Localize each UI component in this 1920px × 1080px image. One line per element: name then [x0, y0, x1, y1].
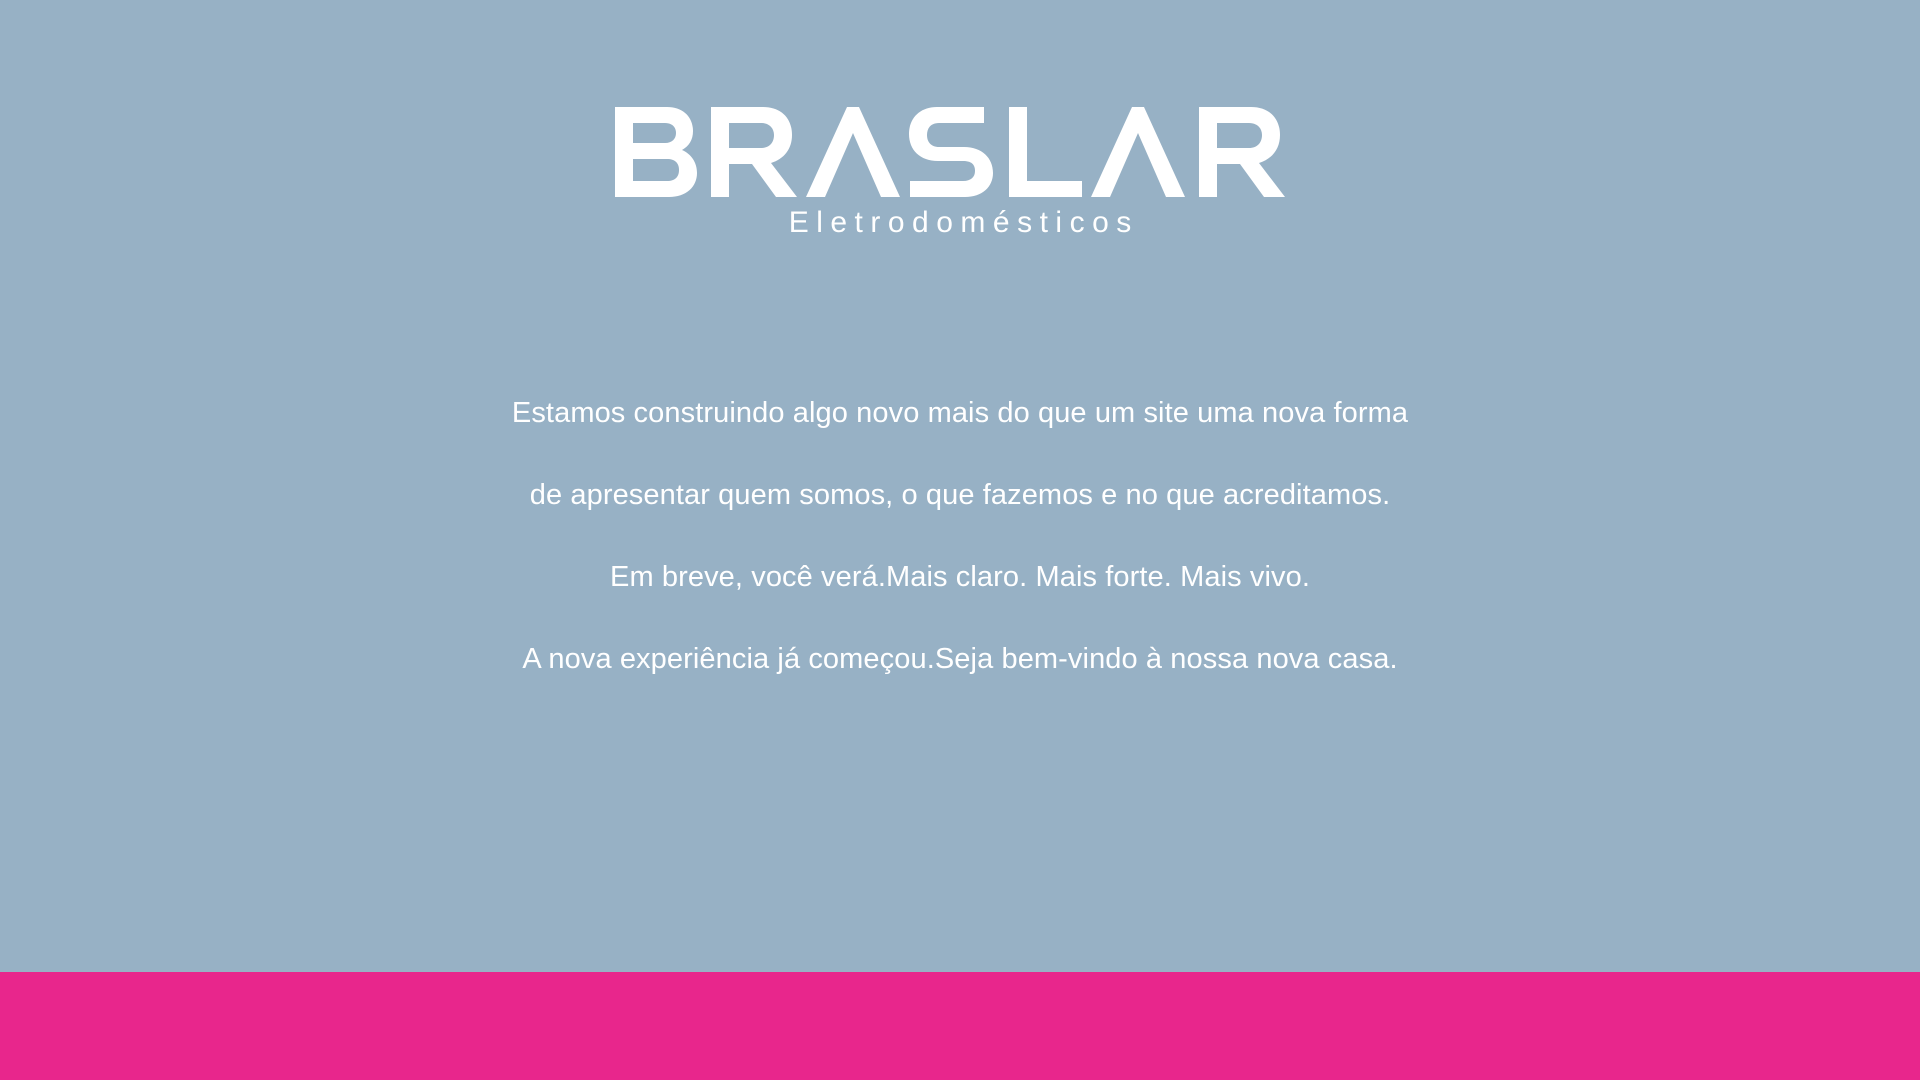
footer-accent-bar [0, 972, 1920, 1080]
brand-lockup: Eletrodomésticos [615, 107, 1305, 241]
brand-tagline: Eletrodomésticos [781, 205, 1139, 241]
braslar-wordmark-icon [615, 107, 1305, 197]
announcement-message: Estamos construindo algo novo mais do qu… [310, 372, 1610, 700]
message-line: de apresentar quem somos, o que fazemos … [310, 454, 1610, 536]
message-line: Em breve, você verá.Mais claro. Mais for… [310, 536, 1610, 618]
hero-section: Eletrodomésticos Estamos construindo alg… [0, 0, 1920, 972]
message-line: Estamos construindo algo novo mais do qu… [310, 372, 1610, 454]
coming-soon-page: Eletrodomésticos Estamos construindo alg… [0, 0, 1920, 1080]
message-line: A nova experiência já começou.Seja bem-v… [310, 618, 1610, 700]
